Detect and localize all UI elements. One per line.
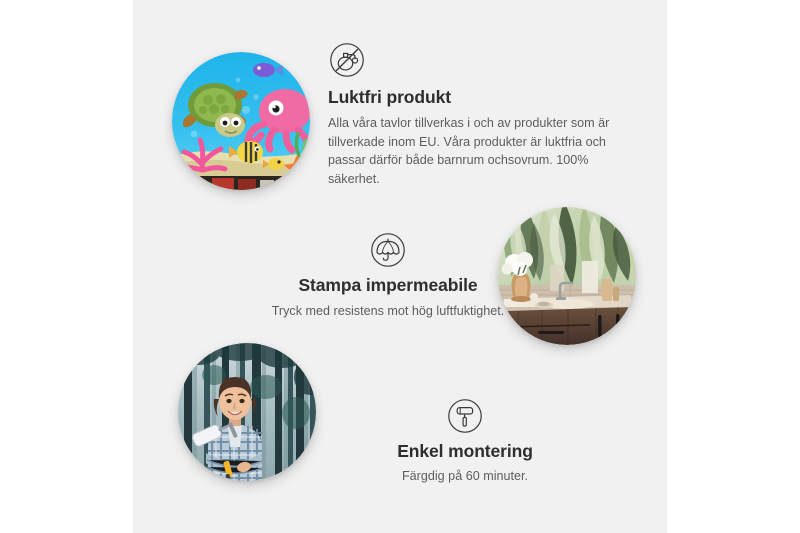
feature-title: Stampa impermeabile xyxy=(218,275,558,296)
photo-forest xyxy=(178,343,316,481)
feature-waterproof: Stampa impermeabile Tryck med resistens … xyxy=(218,232,558,321)
feature-odourless: Luktfri produkt Alla våra tavlor tillver… xyxy=(328,42,626,188)
feature-easy-mounting: Enkel montering Färgdig på 60 minuter. xyxy=(330,398,600,486)
photo-ocean xyxy=(172,52,310,190)
feature-title: Luktfri produkt xyxy=(328,87,626,108)
feature-title: Enkel montering xyxy=(330,441,600,462)
feature-description: Färgdig på 60 minuter. xyxy=(330,467,600,486)
content-panel: Luktfri produkt Alla våra tavlor tillver… xyxy=(133,0,667,533)
feature-description: Tryck med resistens mot hög luftfuktighe… xyxy=(218,302,558,321)
no-perfume-spray-icon xyxy=(329,42,365,78)
umbrella-icon xyxy=(370,232,406,268)
page-root: Luktfri produkt Alla våra tavlor tillver… xyxy=(0,0,800,533)
paint-roller-icon xyxy=(447,398,483,434)
feature-description: Alla våra tavlor tillverkas i och av pro… xyxy=(328,114,626,188)
